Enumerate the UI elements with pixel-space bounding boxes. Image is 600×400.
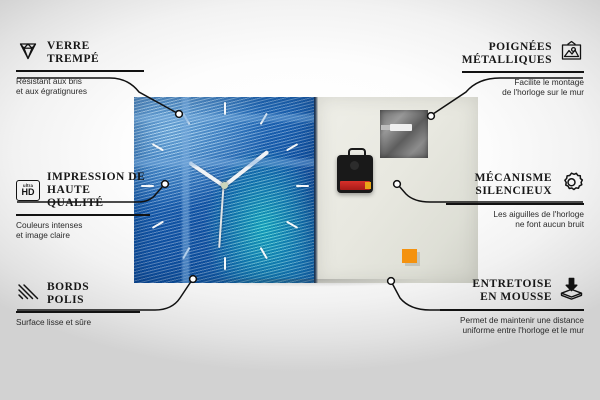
foam-spacer-arrow-icon (559, 277, 584, 305)
callout-desc-line1: Couleurs intenses (16, 220, 150, 230)
callout-foam-spacer: ENTRETOISE EN MOUSSE Permet de maintenir… (440, 277, 584, 335)
callout-desc-line2: ne font aucun bruit (446, 219, 584, 229)
callout-title-line2: EN MOUSSE (472, 291, 552, 304)
diamond-icon (16, 41, 40, 66)
callout-title-line2: TREMPÉ (47, 53, 99, 66)
polished-edges-icon (16, 282, 40, 307)
infographic-canvas: VERRE TREMPÉ Résistant aux bris et aux é… (0, 0, 600, 400)
callout-desc-line2: uniforme entre l'horloge et le mur (440, 325, 584, 335)
callout-desc-line2: et aux égratignures (16, 86, 144, 96)
callout-rule (446, 203, 584, 205)
wire-node-edges (190, 276, 197, 283)
callout-polished-edges: BORDS POLIS Surface lisse et sûre (16, 281, 140, 327)
callout-metal-handles: POIGNÉES MÉTALLIQUES Facilite le montage… (462, 40, 584, 97)
wire-node-foam (388, 278, 395, 285)
callout-desc-line2: de l'horloge sur le mur (462, 87, 584, 97)
callout-rule (16, 70, 144, 72)
wire-node-handles (428, 113, 435, 120)
callout-tempered-glass: VERRE TREMPÉ Résistant aux bris et aux é… (16, 40, 144, 96)
callout-desc-line1: Surface lisse et sûre (16, 317, 140, 327)
ultra-hd-badge-icon: ultra HD (16, 180, 40, 201)
callout-title-line1: POIGNÉES (462, 41, 552, 54)
callout-rule (462, 71, 584, 73)
callout-desc-line1: Facilite le montage (462, 77, 584, 87)
callout-desc-line1: Les aiguilles de l'horloge (446, 209, 584, 219)
callout-title-line2: HAUTE QUALITÉ (47, 184, 150, 210)
callout-desc-line2: et image claire (16, 230, 150, 240)
callout-title-line2: MÉTALLIQUES (462, 54, 552, 67)
callout-title-line1: VERRE (47, 40, 99, 53)
callout-high-quality-print: ultra HD IMPRESSION DE HAUTE QUALITÉ Cou… (16, 171, 150, 240)
wire-node-mechanism (394, 181, 401, 188)
callout-silent-mechanism: MÉCANISME SILENCIEUX Les aiguilles de l'… (446, 171, 584, 229)
callout-rule (16, 214, 150, 216)
callout-title-line1: ENTRETOISE (472, 278, 552, 291)
callout-desc-line1: Résistant aux bris (16, 76, 144, 86)
badge-hd-text: HD (22, 188, 35, 197)
callout-title-line1: MÉCANISME (475, 172, 552, 185)
gear-icon (559, 171, 584, 199)
wire-node-glass (176, 111, 183, 118)
picture-frame-hanger-icon (559, 40, 584, 67)
callout-rule (440, 309, 584, 311)
wire-node-print (162, 181, 169, 188)
callout-title-line2: POLIS (47, 294, 89, 307)
callout-title-line1: BORDS (47, 281, 89, 294)
callout-desc-line1: Permet de maintenir une distance (440, 315, 584, 325)
callout-title-line1: IMPRESSION DE (47, 171, 150, 184)
callout-rule (16, 311, 140, 313)
callout-title-line2: SILENCIEUX (475, 185, 552, 198)
